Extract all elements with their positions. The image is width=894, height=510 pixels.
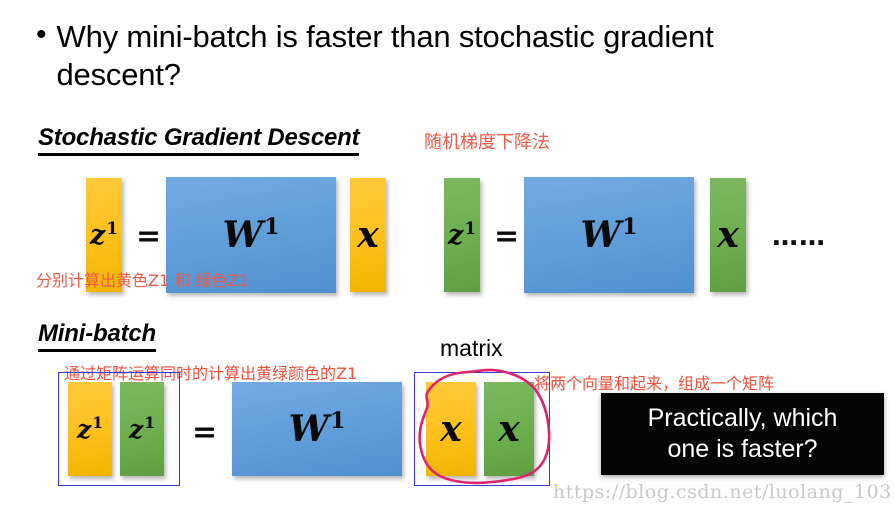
z-symbol: z1 — [129, 417, 155, 442]
w-symbol: W1 — [223, 217, 280, 253]
minibatch-chinese-annotation-right: 将两个向量和起来，组成一个矩阵 — [534, 370, 774, 394]
minibatch-z-box-yellow: z1 — [68, 382, 112, 476]
slide-canvas: • Why mini-batch is faster than stochast… — [0, 0, 894, 510]
minibatch-z-box-green: z1 — [120, 382, 164, 476]
title-text: Why mini-batch is faster than stochastic… — [57, 18, 797, 94]
x-symbol: x — [440, 411, 461, 447]
x-symbol: x — [357, 217, 378, 253]
x-symbol: x — [498, 411, 519, 447]
sgd-eq1-x-box: x — [350, 178, 386, 292]
page-title: • Why mini-batch is faster than stochast… — [36, 18, 856, 94]
sgd-eq2-x-box: x — [710, 178, 746, 292]
minibatch-w-box: W1 — [232, 382, 402, 476]
sgd-ellipsis: …… — [772, 222, 826, 252]
bullet-icon: • — [36, 18, 47, 52]
matrix-label: matrix — [440, 335, 503, 362]
sgd-eq1-equals: = — [136, 219, 161, 254]
w-symbol: W1 — [581, 217, 638, 253]
minibatch-x-box-yellow: x — [426, 382, 476, 476]
sgd-heading-chinese: 随机梯度下降法 — [424, 128, 550, 154]
section-heading-minibatch: Mini-batch — [38, 320, 156, 352]
callout-text: Practically, which one is faster? — [634, 399, 852, 469]
sgd-chinese-annotation: 分别计算出黄色Z1 和 绿色Z1 — [36, 267, 248, 291]
minibatch-x-box-green: x — [484, 382, 534, 476]
z-symbol: z1 — [77, 417, 103, 442]
callout-box: Practically, which one is faster? — [601, 393, 884, 475]
sgd-eq2-z-box: z1 — [444, 178, 480, 292]
x-symbol: x — [717, 217, 738, 253]
w-symbol: W1 — [289, 411, 346, 447]
z-symbol: z1 — [448, 222, 476, 249]
watermark-text: https://blog.csdn.net/luolang_103 — [553, 481, 892, 503]
sgd-eq2-w-box: W1 — [524, 177, 694, 293]
callout-line-1: Practically, which — [648, 404, 838, 432]
z-symbol: z1 — [90, 222, 118, 249]
minibatch-equals: = — [192, 415, 217, 450]
sgd-eq2-equals: = — [494, 219, 519, 254]
section-heading-sgd: Stochastic Gradient Descent — [38, 124, 359, 156]
callout-line-2: one is faster? — [667, 435, 817, 463]
